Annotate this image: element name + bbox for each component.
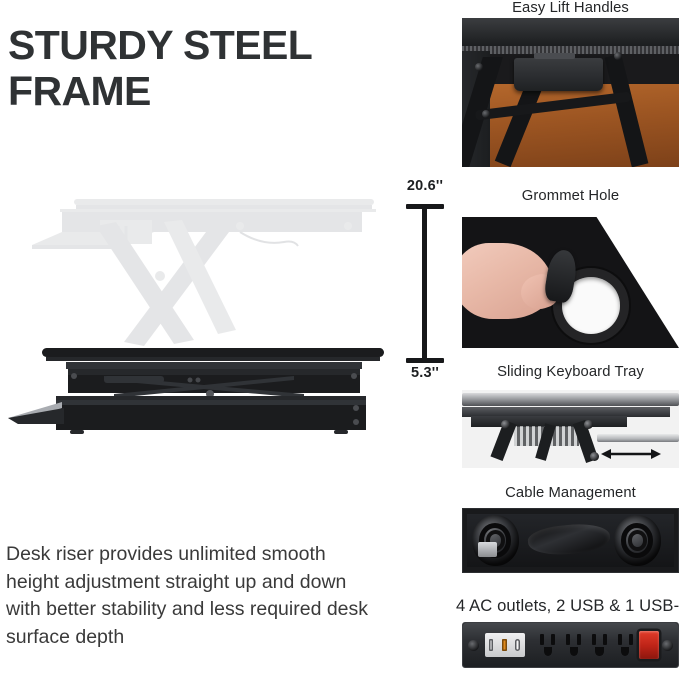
- photo-easy-lift-handles: [462, 18, 679, 167]
- ac-outlet[interactable]: [588, 634, 612, 660]
- dimension-label-raised: 20.6'': [396, 178, 454, 194]
- ac-outlet[interactable]: [614, 634, 638, 660]
- outlet-slot: [540, 634, 544, 646]
- mounting-screw-left: [468, 640, 479, 651]
- photo-power-strip: [462, 622, 679, 668]
- panel-label-sliding-keyboard-tray: Sliding Keyboard Tray: [462, 364, 679, 380]
- outlet-ground: [595, 647, 603, 656]
- panel-label-power-outlets: 4 AC outlets, 2 USB & 1 USB-C: [456, 596, 679, 616]
- slide-direction-arrow-icon: [600, 446, 662, 462]
- outlet-slot: [618, 634, 622, 646]
- outlet-slot: [603, 634, 607, 646]
- lift-handle: [514, 58, 603, 91]
- screw-head: [482, 110, 490, 118]
- usb-a-fast-charge-port[interactable]: [502, 639, 507, 651]
- outlet-slot: [592, 634, 596, 646]
- mounting-screw-right: [662, 640, 673, 651]
- outlet-slot: [551, 634, 555, 646]
- cable-plug: [478, 542, 497, 557]
- desk-underside: [462, 18, 679, 48]
- usb-a-port[interactable]: [489, 639, 494, 651]
- dimension-stem: [422, 207, 427, 360]
- outlet-ground: [570, 647, 578, 656]
- dimension-label-collapsed: 5.3'': [396, 365, 454, 381]
- ac-outlet[interactable]: [536, 634, 560, 660]
- coiled-cable-inner: [628, 530, 647, 550]
- photo-grommet-hole: [462, 217, 679, 348]
- product-infographic: STURDY STEEL FRAME: [0, 0, 679, 675]
- panel-label-cable-management: Cable Management: [462, 485, 679, 501]
- pivot-bolt: [590, 452, 599, 461]
- outlet-slot: [566, 634, 570, 646]
- photo-cable-management: [462, 508, 679, 573]
- usb-c-port[interactable]: [515, 639, 520, 651]
- page-title: STURDY STEEL FRAME: [8, 22, 428, 115]
- outlet-slot: [577, 634, 581, 646]
- product-side-view-illustration: [4, 180, 400, 450]
- dimension-cap-bottom: [406, 358, 444, 363]
- riser-collapsed-solid: [8, 348, 384, 434]
- grommet-ring-right: [614, 515, 661, 565]
- power-switch[interactable]: [639, 631, 658, 659]
- pivot-bolt: [501, 420, 510, 429]
- usb-port-cluster: [485, 633, 526, 658]
- dimension-marker: 20.6'' 5.3'': [396, 178, 454, 388]
- outlet-ground: [621, 647, 629, 656]
- ac-outlet[interactable]: [562, 634, 586, 660]
- pivot-bolt: [584, 420, 593, 429]
- panel-label-easy-lift-handles: Easy Lift Handles: [462, 0, 679, 16]
- screw-head: [475, 63, 483, 71]
- riser-raised-ghost: [32, 199, 376, 346]
- riser-top-surface: [462, 393, 679, 406]
- outlet-slot: [629, 634, 633, 646]
- description-text: Desk riser provides unlimited smooth hei…: [6, 541, 376, 652]
- outlet-ground: [544, 647, 552, 656]
- grommet-ring-left: [472, 515, 519, 565]
- keyboard-tray: [597, 434, 679, 443]
- panel-label-grommet-hole: Grommet Hole: [462, 188, 679, 204]
